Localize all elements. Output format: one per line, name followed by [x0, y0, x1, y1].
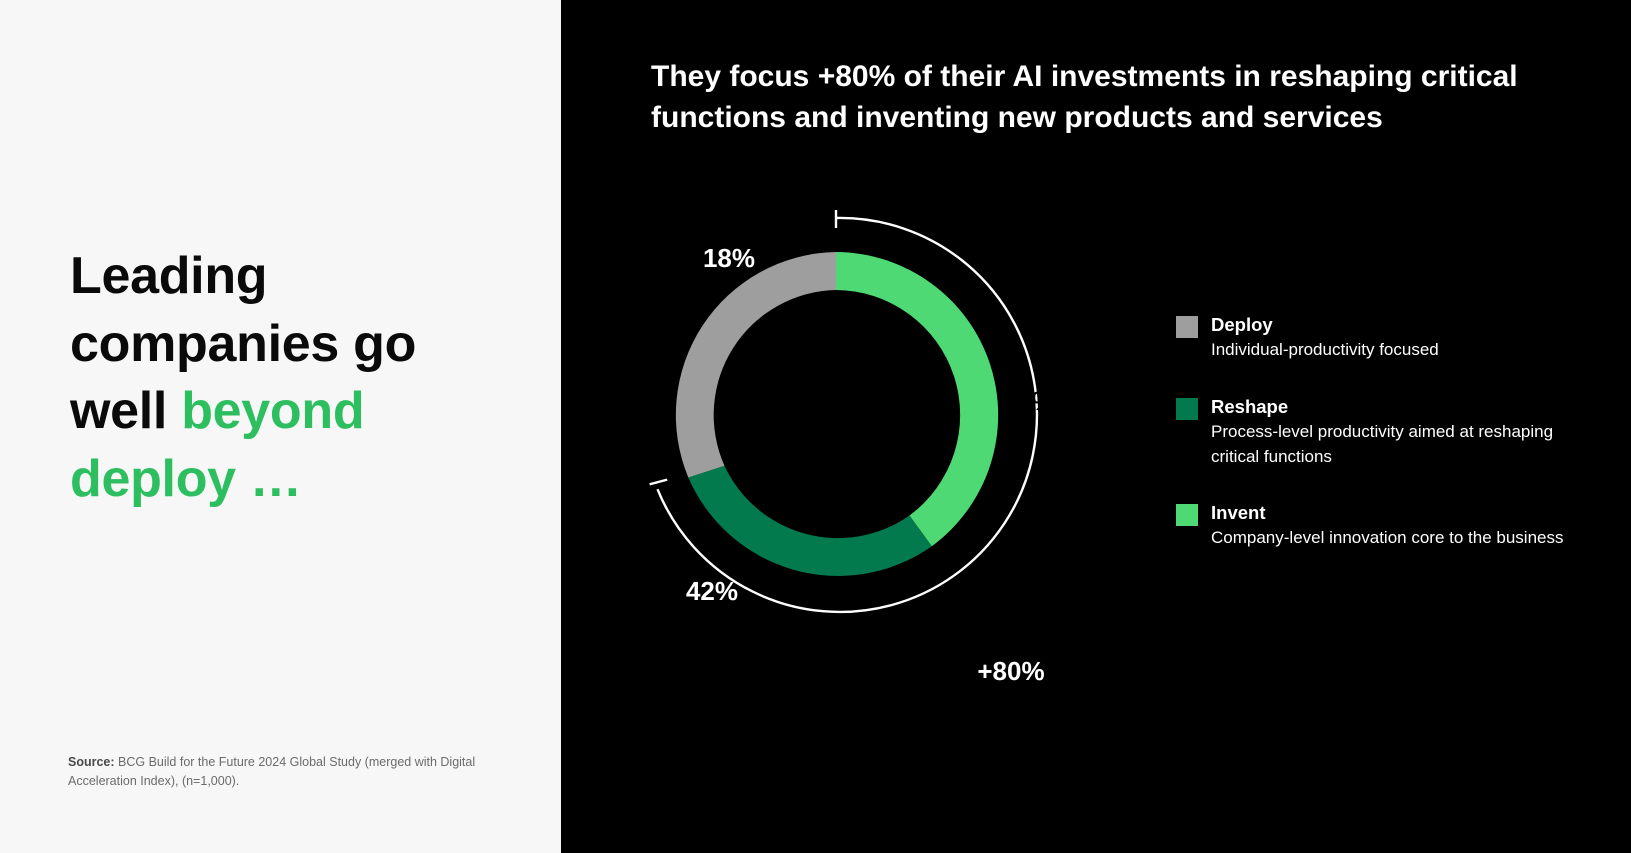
donut-slice-invent[interactable] — [836, 252, 998, 546]
chart-title: They focus +80% of their AI investments … — [651, 57, 1581, 138]
donut-chart-svg: 18% 40% 42% +80% — [561, 140, 1201, 780]
page-title: Leading companies go well beyond deploy … — [70, 243, 500, 513]
legend-title-deploy: Deploy — [1211, 313, 1439, 336]
legend-swatch-reshape-icon — [1176, 398, 1198, 420]
bracket-tick-end — [650, 480, 668, 485]
legend-desc-reshape: Process-level productivity aimed at resh… — [1211, 420, 1576, 469]
slice-label-invent: 40% — [1003, 386, 1055, 416]
legend-text-reshape: Reshape Process-level productivity aimed… — [1211, 395, 1576, 469]
slide: Leading companies go well beyond deploy … — [0, 0, 1631, 853]
legend-title-invent: Invent — [1211, 501, 1563, 524]
right-panel: They focus +80% of their AI investments … — [561, 0, 1631, 853]
donut-slice-deploy[interactable] — [676, 252, 836, 477]
source-text: BCG Build for the Future 2024 Global Stu… — [68, 755, 475, 788]
legend-swatch-deploy-icon — [1176, 316, 1198, 338]
legend-item-invent[interactable]: Invent Company-level innovation core to … — [1176, 501, 1576, 551]
legend-text-invent: Invent Company-level innovation core to … — [1211, 501, 1563, 551]
donut-slice-reshape[interactable] — [688, 466, 932, 576]
legend-desc-deploy: Individual-productivity focused — [1211, 338, 1439, 363]
source-note: Source: BCG Build for the Future 2024 Gl… — [68, 753, 498, 791]
legend-swatch-invent-icon — [1176, 504, 1198, 526]
left-panel: Leading companies go well beyond deploy … — [0, 0, 561, 853]
legend-item-deploy[interactable]: Deploy Individual-productivity focused — [1176, 313, 1576, 363]
donut-chart: 18% 40% 42% +80% — [561, 140, 1201, 780]
chart-legend: Deploy Individual-productivity focused R… — [1176, 313, 1576, 583]
legend-desc-invent: Company-level innovation core to the bus… — [1211, 526, 1563, 551]
source-label: Source: — [68, 755, 115, 769]
slice-label-deploy: 18% — [703, 243, 755, 273]
legend-title-reshape: Reshape — [1211, 395, 1576, 418]
slice-label-reshape: 42% — [686, 576, 738, 606]
bracket-annotation-label: +80% — [977, 656, 1044, 686]
legend-text-deploy: Deploy Individual-productivity focused — [1211, 313, 1439, 363]
legend-item-reshape[interactable]: Reshape Process-level productivity aimed… — [1176, 395, 1576, 469]
